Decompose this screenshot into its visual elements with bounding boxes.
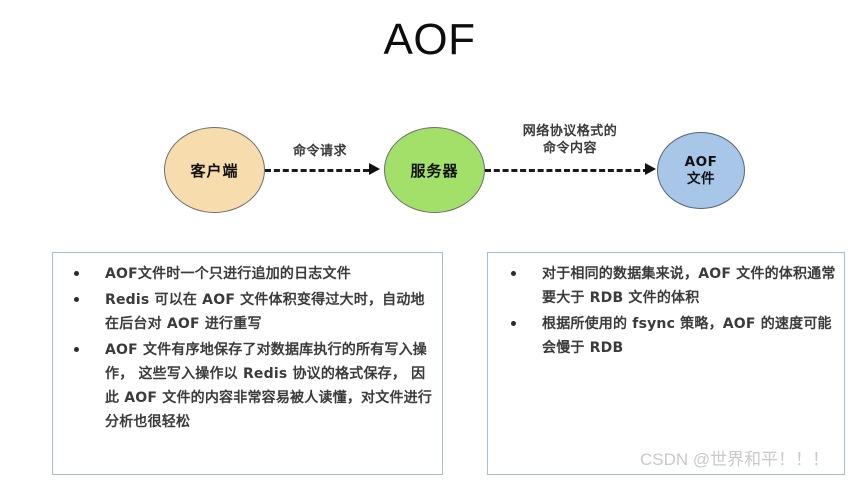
aof-flow-diagram: 客户端 命令请求 服务器 网络协议格式的 命令内容 AOF 文件 xyxy=(0,105,859,230)
disadvantages-bullet-list: 对于相同的数据集来说，AOF 文件的体积通常要大于 RDB 文件的体积 根据所使… xyxy=(494,262,838,360)
diagram-node-aof-label-line-2: 文件 xyxy=(685,171,718,188)
bullet-dot-icon xyxy=(74,271,79,276)
diagram-node-client[interactable]: 客户端 xyxy=(164,127,265,213)
list-item: 对于相同的数据集来说，AOF 文件的体积通常要大于 RDB 文件的体积 xyxy=(494,262,838,310)
disadvantages-text-box: 对于相同的数据集来说，AOF 文件的体积通常要大于 RDB 文件的体积 根据所使… xyxy=(487,252,845,475)
list-item-text: Redis 可以在 AOF 文件体积变得过大时，自动地在后台对 AOF 进行重写 xyxy=(105,292,425,332)
bullet-dot-icon xyxy=(74,297,79,302)
list-item: AOF 文件有序地保存了对数据库执行的所有写入操作， 这些写入操作以 Redis… xyxy=(59,338,436,434)
slide-canvas: AOF 客户端 命令请求 服务器 网络协议格式的 命令内容 AOF 文件 xyxy=(0,0,859,486)
diagram-node-server-label: 服务器 xyxy=(410,160,458,181)
diagram-node-aof-label-line-1: AOF xyxy=(685,154,718,171)
diagram-edge-server-to-aof xyxy=(485,169,649,172)
bullet-dot-icon xyxy=(74,347,79,352)
diagram-node-server[interactable]: 服务器 xyxy=(384,127,485,213)
arrow-head-icon xyxy=(645,163,656,175)
edge-label-line-1: 网络协议格式的 xyxy=(523,124,618,139)
edge-label-line-2: 命令内容 xyxy=(543,141,597,156)
list-item: 根据所使用的 fsync 策略，AOF 的速度可能会慢于 RDB xyxy=(494,312,838,360)
diagram-node-client-label: 客户端 xyxy=(190,160,238,181)
list-item-text: AOF文件时一个只进行追加的日志文件 xyxy=(105,266,351,282)
advantages-bullet-list: AOF文件时一个只进行追加的日志文件 Redis 可以在 AOF 文件体积变得过… xyxy=(59,262,436,434)
list-item-text: 对于相同的数据集来说，AOF 文件的体积通常要大于 RDB 文件的体积 xyxy=(542,266,836,306)
page-title: AOF xyxy=(0,14,859,66)
advantages-text-box: AOF文件时一个只进行追加的日志文件 Redis 可以在 AOF 文件体积变得过… xyxy=(52,252,443,475)
diagram-node-aof-file[interactable]: AOF 文件 xyxy=(657,132,745,209)
bullet-dot-icon xyxy=(511,321,516,326)
diagram-edge-label-protocol-content: 网络协议格式的 命令内容 xyxy=(490,123,650,157)
bullet-dot-icon xyxy=(511,271,516,276)
list-item-text: AOF 文件有序地保存了对数据库执行的所有写入操作， 这些写入操作以 Redis… xyxy=(105,342,432,430)
list-item: AOF文件时一个只进行追加的日志文件 xyxy=(59,262,436,286)
arrow-head-icon xyxy=(369,163,380,175)
list-item: Redis 可以在 AOF 文件体积变得过大时，自动地在后台对 AOF 进行重写 xyxy=(59,288,436,336)
diagram-edge-label-command-request: 命令请求 xyxy=(268,143,372,160)
list-item-text: 根据所使用的 fsync 策略，AOF 的速度可能会慢于 RDB xyxy=(542,316,832,356)
diagram-edge-client-to-server xyxy=(265,169,369,172)
